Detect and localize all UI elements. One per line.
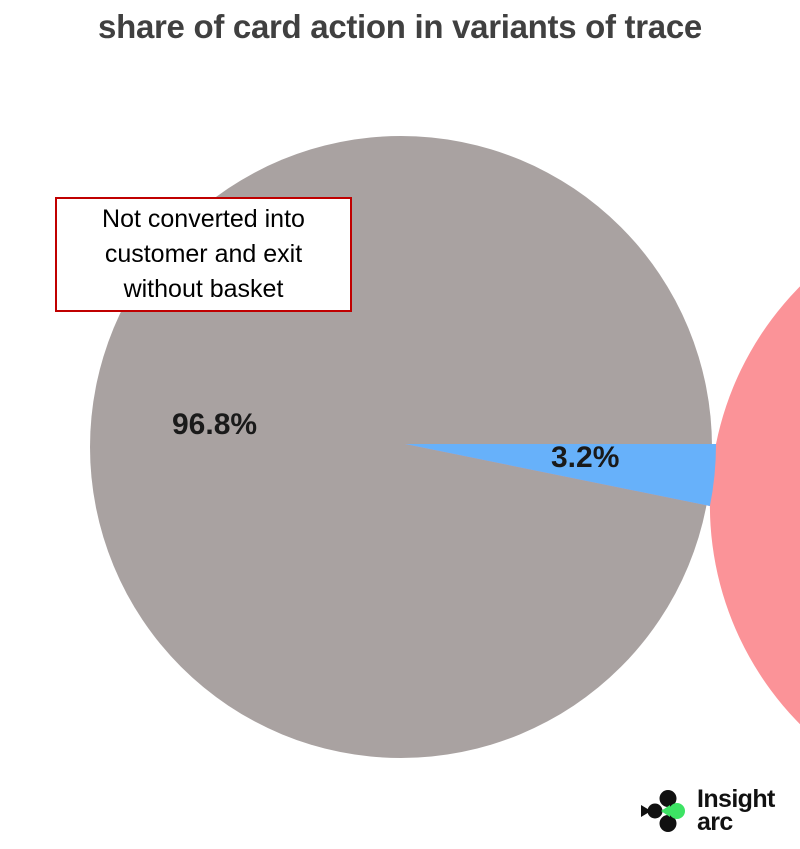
annotation-callout: Not converted into customer and exit wit… [55, 197, 352, 312]
annotation-line-1: Not converted into [102, 202, 305, 237]
pie-chart: 96.8% 3.2% [0, 0, 800, 800]
logo-wordmark: Insight arc [697, 788, 775, 834]
annotation-line-2: customer and exit [105, 237, 302, 272]
brand-logo: Insight arc [641, 782, 791, 840]
slice-label-not-converted: 96.8% [172, 408, 257, 442]
slice-label-converted: 3.2% [551, 441, 619, 475]
pie-chart-svg [0, 0, 800, 800]
annotation-line-3: without basket [124, 272, 284, 307]
insight-arc-logo-icon [641, 788, 693, 834]
logo-line-2: arc [697, 811, 775, 834]
